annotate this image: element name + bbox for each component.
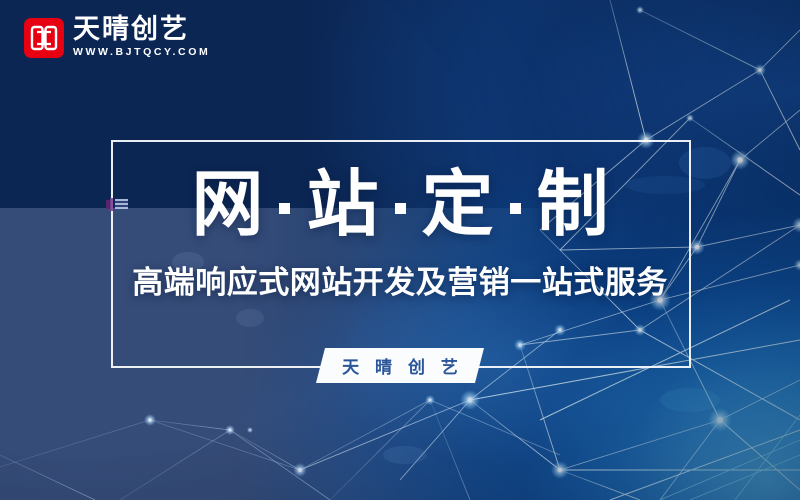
site-logo[interactable]: 天晴创艺 WWW.BJTQCY.COM bbox=[24, 16, 210, 59]
title-separator-square-3 bbox=[510, 203, 521, 214]
title-separator-square-1 bbox=[279, 203, 290, 214]
title-separator-square-2 bbox=[395, 203, 406, 214]
title-char-1: 网 bbox=[191, 168, 263, 240]
page-subtitle: 高端响应式网站开发及营销一站式服务 bbox=[0, 263, 800, 303]
banner-canvas: 天晴创艺 WWW.BJTQCY.COM 网 站 定 制 高端响应式网站开发及营销… bbox=[0, 0, 800, 500]
logo-company-name: 天晴创艺 bbox=[73, 16, 210, 44]
title-char-3: 定 bbox=[422, 168, 494, 240]
logo-text-block: 天晴创艺 WWW.BJTQCY.COM bbox=[73, 16, 210, 59]
tianqing-monogram-icon bbox=[24, 18, 64, 58]
brand-badge-label: 天 晴 创 艺 bbox=[337, 353, 463, 378]
logo-website-url: WWW.BJTQCY.COM bbox=[73, 46, 210, 59]
brand-badge: 天 晴 创 艺 bbox=[316, 348, 484, 383]
title-char-2: 站 bbox=[306, 168, 378, 240]
page-title: 网 站 定 制 bbox=[0, 168, 800, 240]
title-char-4: 制 bbox=[537, 168, 609, 240]
